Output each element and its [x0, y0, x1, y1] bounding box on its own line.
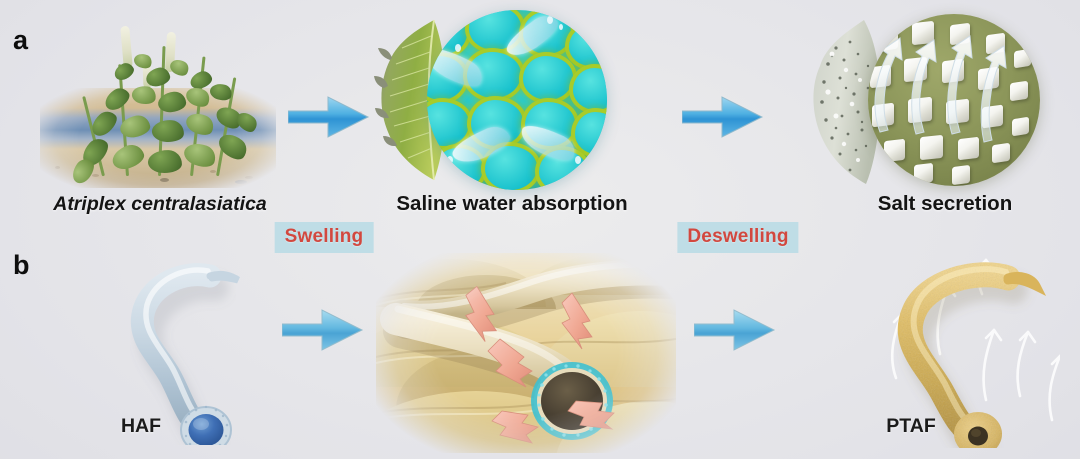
caption-ptaf: PTAF [886, 415, 935, 438]
caption-haf: HAF [121, 415, 161, 438]
figure-root: a [0, 0, 1080, 459]
caption-salt-secretion: Salt secretion [878, 192, 1012, 216]
caption-saline-absorption: Saline water absorption [396, 192, 627, 216]
panel-letter-a: a [13, 27, 28, 54]
arrow-a2-icon [682, 92, 764, 142]
salt-crystal-circle [868, 14, 1040, 186]
arrow-b2-icon [694, 305, 776, 355]
panel-letter-b: b [13, 252, 30, 279]
arrow-b1-icon [282, 305, 364, 355]
salt-secretion-arrows-icon [868, 14, 1040, 186]
caption-plant: Atriplex centralasiatica [53, 193, 267, 216]
fiber-in-desert-sand-icon [376, 253, 676, 453]
cell-magnification-circle [427, 10, 607, 190]
process-label-deswelling: Deswelling [677, 222, 798, 253]
arrow-a1-icon [288, 92, 370, 142]
process-label-swelling: Swelling [275, 222, 374, 253]
plant-foliage [40, 10, 276, 192]
